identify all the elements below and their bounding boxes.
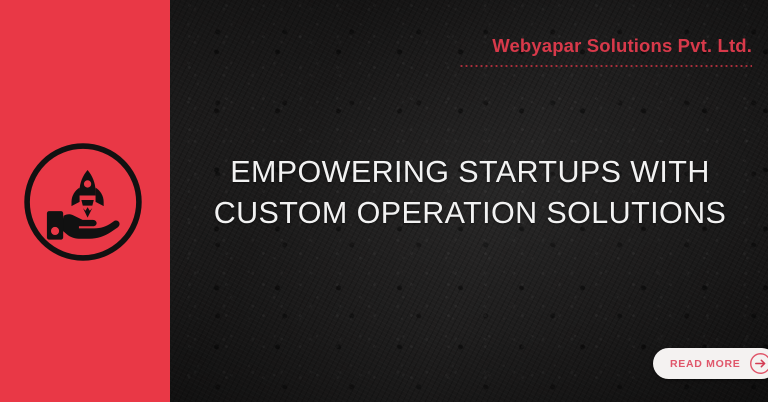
dotted-divider [459,65,752,67]
headline-line-1: EMPOWERING STARTUPS WITH [182,152,758,193]
hand-holding-rocket-icon [22,141,144,263]
company-name: Webyapar Solutions Pvt. Ltd. [452,36,752,56]
promo-banner: Webyapar Solutions Pvt. Ltd. EMPOWERING … [0,0,768,402]
left-red-panel [0,0,170,402]
headline-line-2: CUSTOM OPERATION SOLUTIONS [182,193,758,234]
read-more-label: READ MORE [670,358,740,370]
brand-block: Webyapar Solutions Pvt. Ltd. [452,36,752,67]
page-title: EMPOWERING STARTUPS WITH CUSTOM OPERATIO… [182,152,758,233]
arrow-right-circle-icon[interactable] [749,352,768,375]
read-more-button[interactable]: READ MORE [653,348,768,379]
